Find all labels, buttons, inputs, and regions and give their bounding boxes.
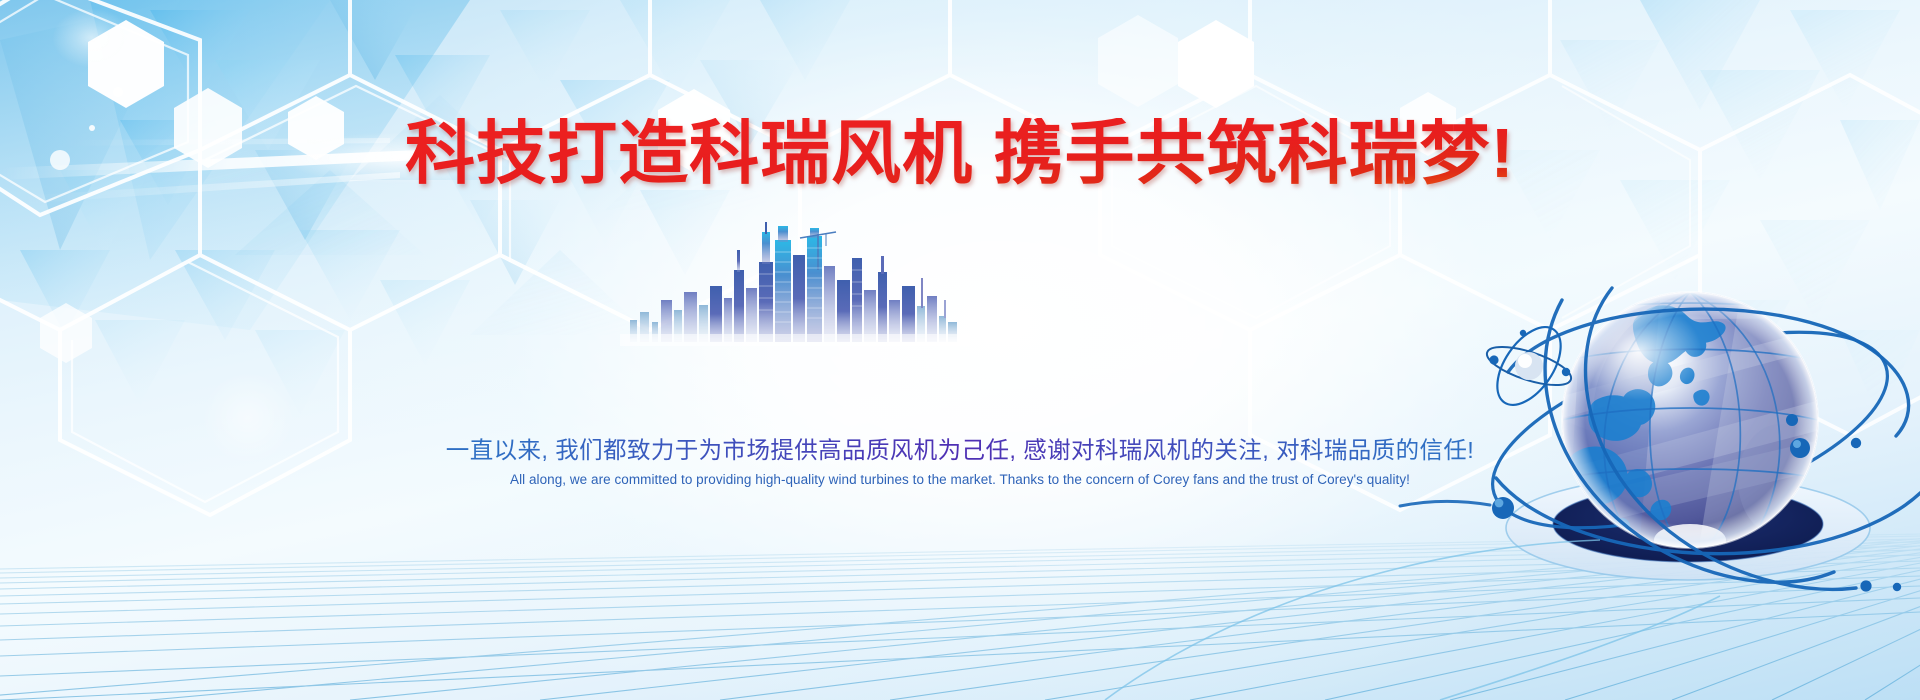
- light-streak: [0, 0, 1920, 700]
- headline: 科技打造科瑞风机 携手共筑科瑞梦!: [0, 118, 1920, 189]
- triangle-shards: [0, 0, 1920, 700]
- globe-graphic: [0, 0, 1920, 700]
- subtitle-english: All along, we are committed to providing…: [0, 472, 1920, 487]
- subtitle-chinese: 一直以来, 我们都致力于为市场提供高品质风机为己任, 感谢对科瑞风机的关注, 对…: [0, 431, 1920, 465]
- city-skyline: [0, 0, 1920, 700]
- hexagon-network: [0, 0, 1920, 700]
- perspective-grid: [0, 0, 1920, 700]
- promotional-banner: 科技打造科瑞风机 携手共筑科瑞梦! 一直以来, 我们都致力于为市场提供高品质风机…: [0, 0, 1920, 700]
